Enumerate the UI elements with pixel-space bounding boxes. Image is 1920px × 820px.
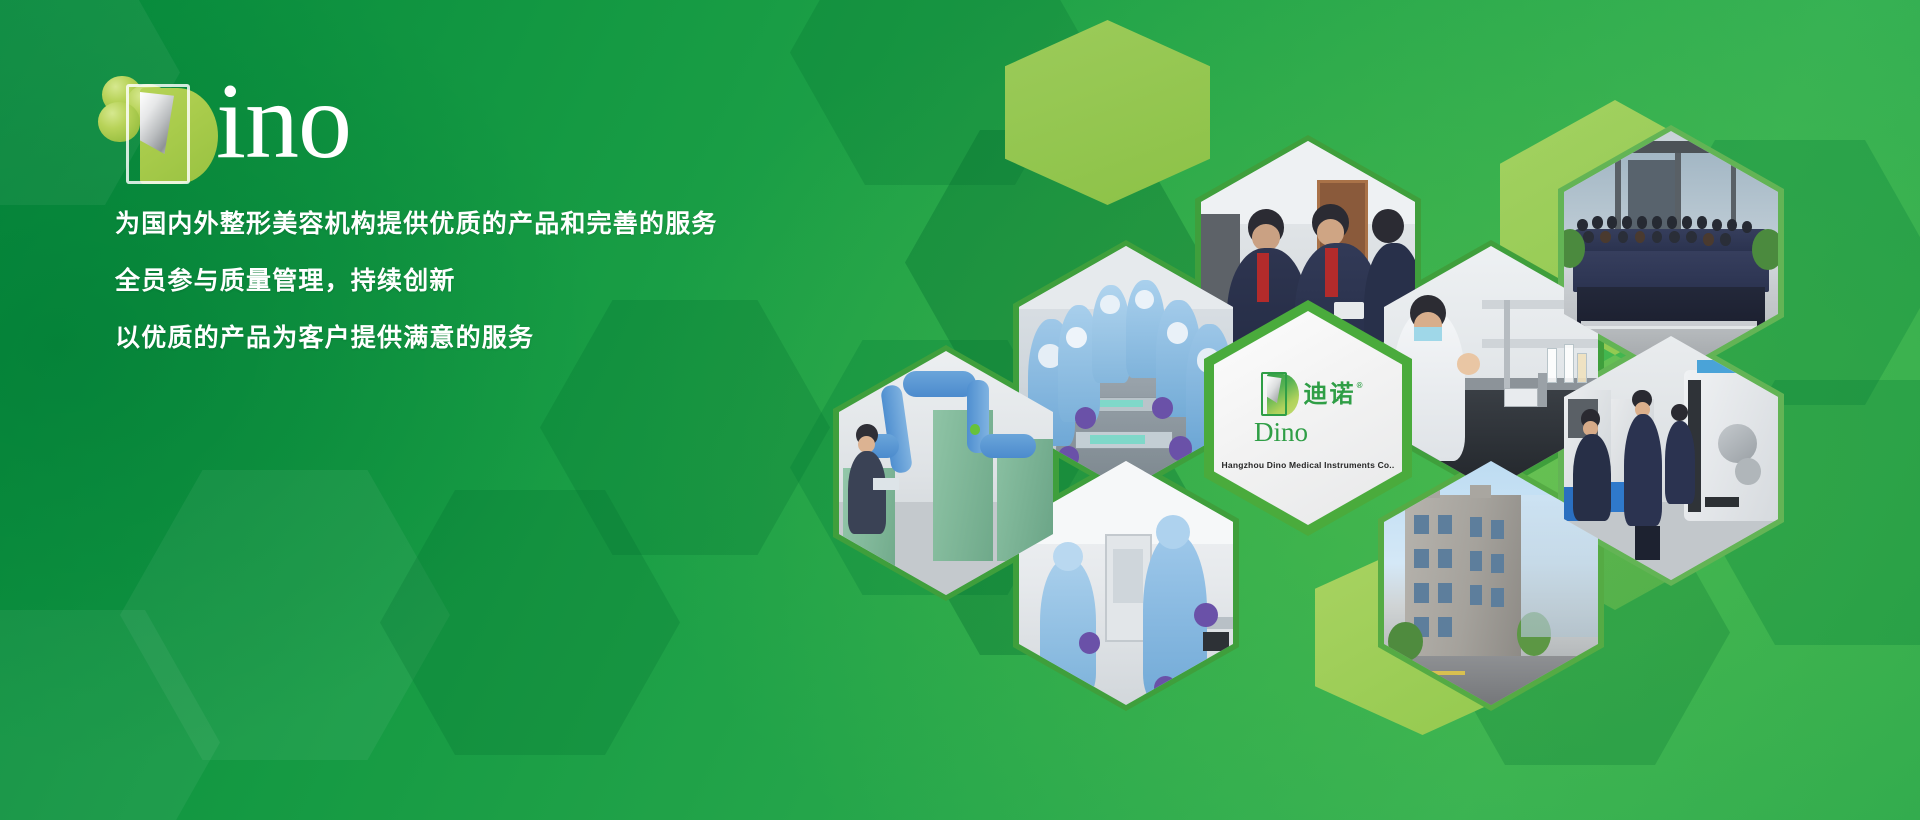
logo-badge-card: 迪诺 ® Dino Hangzhou Dino Medical Instrume… <box>1214 311 1402 525</box>
background-hex-watermark <box>790 0 1090 185</box>
slogan-line-3: 以优质的产品为客户提供满意的服务 <box>115 326 718 351</box>
banner-stage: 迪诺 ® Dino Hangzhou Dino Medical Instrume… <box>0 0 1920 820</box>
dino-wordmark: ino <box>216 68 351 176</box>
slogan-block: 为国内外整形美容机构提供优质的产品和完善的服务 全员参与质量管理，持续创新 以优… <box>115 212 718 383</box>
logo-badge-mark-row: 迪诺 ® <box>1261 372 1356 418</box>
logo-badge-chinese-name: 迪诺 ® <box>1304 383 1356 407</box>
dino-logo[interactable]: ino <box>88 62 508 192</box>
logo-badge-company-line: Hangzhou Dino Medical Instruments Co.. <box>1222 460 1395 470</box>
slogan-line-2: 全员参与质量管理，持续创新 <box>115 269 718 294</box>
dino-leaf-d-icon <box>1261 372 1299 418</box>
dino-leaf-d-icon <box>126 84 218 188</box>
background-hex-watermark <box>0 610 220 820</box>
logo-badge-chinese-text: 迪诺 <box>1304 381 1356 408</box>
background-hex-accent-lime <box>1005 20 1210 205</box>
logo-badge-english-name: Dino <box>1254 419 1308 446</box>
slogan-line-1: 为国内外整形美容机构提供优质的产品和完善的服务 <box>115 212 718 237</box>
background-hex-watermark <box>120 470 450 760</box>
background-hex-watermark <box>380 490 680 755</box>
registered-trademark-icon: ® <box>1357 382 1365 390</box>
